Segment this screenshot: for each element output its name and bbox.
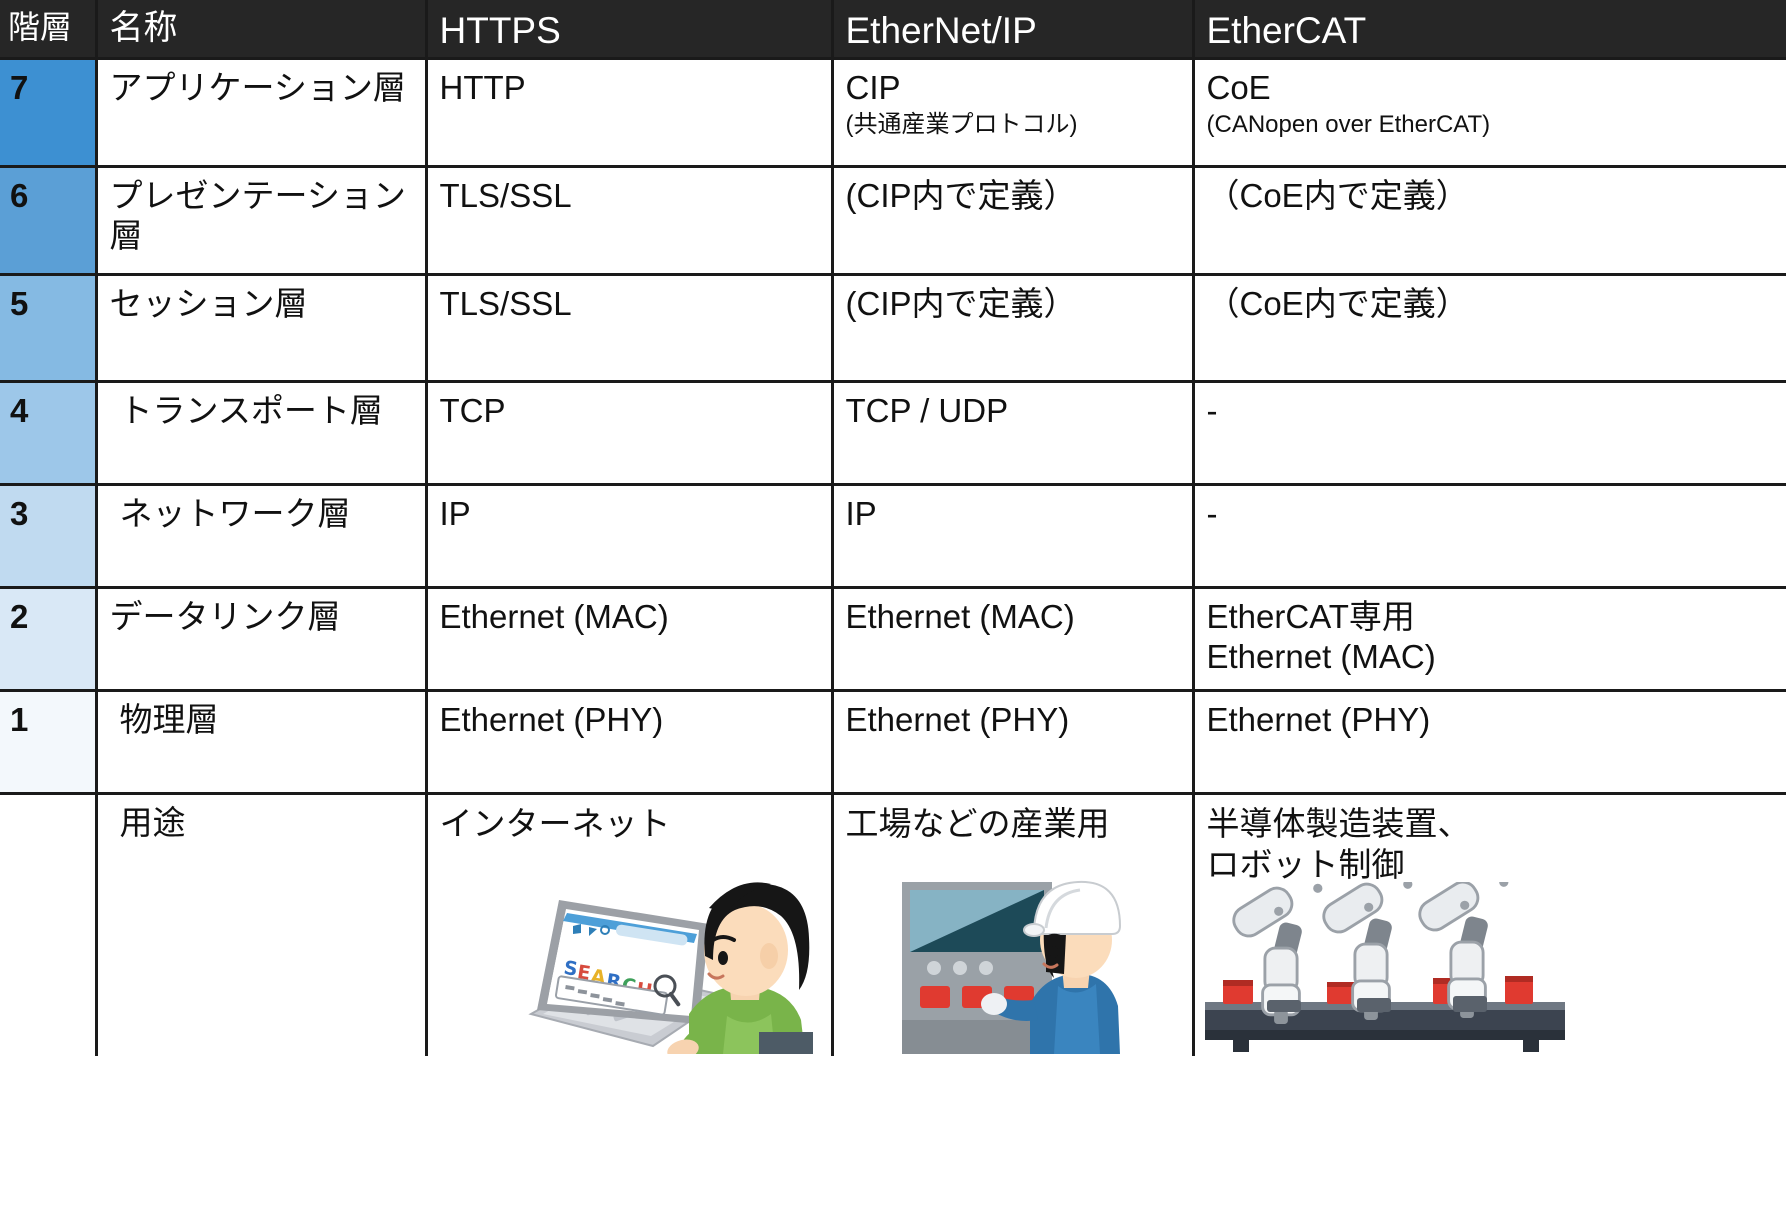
table-row: 5 セッション層 TLS/SSL (CIP内で定義） （CoE内で定義） [0,275,1786,382]
layer-name: 物理層 [96,691,426,794]
layer-number: 2 [0,588,96,691]
cell-ethercat: Ethernet (PHY) [1193,691,1786,794]
table-row: 6 プレゼンテーション層 TLS/SSL (CIP内で定義） （CoE内で定義） [0,167,1786,275]
usage-label: 用途 [96,794,426,1056]
layer-number: 6 [0,167,96,275]
column-header-ethercat: EtherCAT [1193,0,1786,59]
table-row: 4 トランスポート層 TCP TCP / UDP - [0,382,1786,485]
cell-ethernetip: CIP(共通産業プロトコル) [832,59,1193,167]
layer-name: データリンク層 [96,588,426,691]
layer-name: プレゼンテーション層 [96,167,426,275]
person-at-laptop-illustration: S E A R C H [513,864,813,1054]
layer-number: 3 [0,485,96,588]
layer-name: セッション層 [96,275,426,382]
cell-https: TLS/SSL [426,275,832,382]
cell-https: Ethernet (PHY) [426,691,832,794]
factory-worker-at-machine-illustration [894,864,1124,1054]
table-body: 7 アプリケーション層 HTTP CIP(共通産業プロトコル) CoE(CANo… [0,59,1786,1056]
usage-https-label: インターネット [440,803,821,844]
cell-https: IP [426,485,832,588]
cell-ethercat: - [1193,485,1786,588]
cell-ethernetip: (CIP内で定義） [832,167,1193,275]
table-row: 7 アプリケーション層 HTTP CIP(共通産業プロトコル) CoE(CANo… [0,59,1786,167]
cell-usage-ethercat: 半導体製造装置、 ロボット制御 [1193,794,1786,1056]
cell-ethernetip: (CIP内で定義） [832,275,1193,382]
cell-usage-https: インターネット [426,794,832,1056]
cell-ethercat: CoE(CANopen over EtherCAT) [1193,59,1786,167]
cell-ethercat: EtherCAT専用Ethernet (MAC) [1193,588,1786,691]
layer-number: 1 [0,691,96,794]
cell-https: TLS/SSL [426,167,832,275]
table-row-usage: 用途 インターネット [0,794,1786,1056]
header-row: 階層 名称 HTTPS EtherNet/IP EtherCAT [0,0,1786,59]
cell-ethernetip-main: CIP [846,69,901,106]
layer-number: 7 [0,59,96,167]
cell-ethernetip: IP [832,485,1193,588]
table-row: 3 ネットワーク層 IP IP - [0,485,1786,588]
usage-ethernetip-label: 工場などの産業用 [846,803,1182,844]
cell-https-main: HTTP [440,69,526,106]
column-header-layer: 階層 [0,0,96,59]
cell-ethercat-sub: (CANopen over EtherCAT) [1207,110,1777,140]
robot-arms-assembly-line-illustration [1205,882,1565,1052]
osi-comparison-table-sheet: 階層 名称 HTTPS EtherNet/IP EtherCAT 7 アプリケー… [0,0,1786,1206]
cell-ethernetip: Ethernet (PHY) [832,691,1193,794]
layer-name: トランスポート層 [96,382,426,485]
usage-ethercat-label-line2: ロボット制御 [1207,844,1777,885]
cell-ethernetip-sub: (共通産業プロトコル) [846,110,1182,140]
layer-number [0,794,96,1056]
cell-ethercat-main: CoE [1207,69,1271,106]
cell-ethercat-line2: Ethernet (MAC) [1207,638,1436,675]
column-header-ethernetip: EtherNet/IP [832,0,1193,59]
layer-name: ネットワーク層 [96,485,426,588]
cell-ethernetip: Ethernet (MAC) [832,588,1193,691]
layer-name: アプリケーション層 [96,59,426,167]
cell-ethercat-line1: EtherCAT専用 [1207,598,1415,635]
table-row: 2 データリンク層 Ethernet (MAC) Ethernet (MAC) … [0,588,1786,691]
cell-usage-ethernetip: 工場などの産業用 [832,794,1193,1056]
cell-https: Ethernet (MAC) [426,588,832,691]
layer-number: 5 [0,275,96,382]
cell-https: HTTP [426,59,832,167]
osi-protocol-comparison-table: 階層 名称 HTTPS EtherNet/IP EtherCAT 7 アプリケー… [0,0,1786,1056]
cell-ethernetip: TCP / UDP [832,382,1193,485]
usage-ethercat-label-line1: 半導体製造装置、 [1207,803,1777,844]
cell-ethercat: （CoE内で定義） [1193,167,1786,275]
table-row: 1 物理層 Ethernet (PHY) Ethernet (PHY) Ethe… [0,691,1786,794]
table-header: 階層 名称 HTTPS EtherNet/IP EtherCAT [0,0,1786,59]
cell-ethercat: - [1193,382,1786,485]
layer-number: 4 [0,382,96,485]
cell-ethercat: （CoE内で定義） [1193,275,1786,382]
column-header-https: HTTPS [426,0,832,59]
cell-https: TCP [426,382,832,485]
column-header-name: 名称 [96,0,426,59]
